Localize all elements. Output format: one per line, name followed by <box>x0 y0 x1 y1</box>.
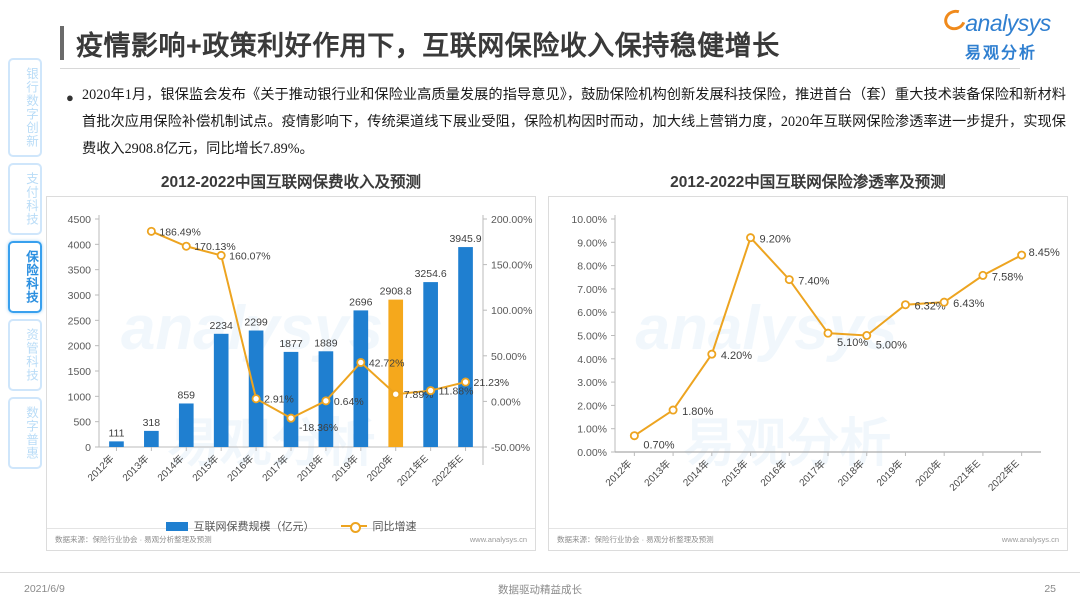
analysys-logo: analysys 易观分析 <box>940 8 1062 60</box>
svg-text:42.72%: 42.72% <box>369 357 405 369</box>
chart-source-right: 数据来源：保险行业协会 · 易观分析整理及预测 www.analysys.cn <box>549 528 1067 550</box>
svg-text:6.43%: 6.43% <box>953 298 984 310</box>
bar-2016年 <box>249 331 264 447</box>
svg-text:2.00%: 2.00% <box>577 400 607 412</box>
chart-svg-penetration-rate: analysys易观分析0.00%1.00%2.00%3.00%4.00%5.0… <box>549 197 1067 527</box>
svg-text:2022年E: 2022年E <box>985 457 1022 494</box>
svg-text:150.00%: 150.00% <box>491 260 532 272</box>
svg-text:2013年: 2013年 <box>641 457 673 489</box>
svg-text:4.20%: 4.20% <box>721 350 752 362</box>
svg-text:2013年: 2013年 <box>119 452 151 484</box>
sidebar-item-bank-digital[interactable]: 银行数字创新 <box>8 58 42 157</box>
logo-chinese-text: 易观分析 <box>940 39 1062 63</box>
header-divider <box>60 68 1020 69</box>
svg-text:0: 0 <box>85 442 91 454</box>
svg-text:10.00%: 10.00% <box>571 214 607 226</box>
svg-text:0.64%: 0.64% <box>334 396 364 408</box>
title-accent-bar <box>60 26 64 60</box>
slide-root: 疫情影响+政策利好作用下，互联网保险收入保持稳健增长 analysys 易观分析… <box>0 0 1080 608</box>
svg-text:3.00%: 3.00% <box>577 377 607 389</box>
svg-text:-18.36%: -18.36% <box>299 422 338 434</box>
svg-text:5.10%: 5.10% <box>837 337 868 349</box>
bar-2014年 <box>179 403 194 447</box>
svg-text:318: 318 <box>143 417 161 429</box>
sidebar-item-label: 数字普惠 <box>24 406 38 460</box>
sidebar-nav: 银行数字创新 支付科技 保险科技 资管科技 数字普惠 <box>8 58 42 475</box>
source-url: www.analysys.cn <box>470 535 527 544</box>
logo-wordmark: analysys <box>940 8 1062 38</box>
svg-text:7.00%: 7.00% <box>577 284 607 296</box>
source-label: 数据来源：保险行业协会 · 易观分析整理及预测 <box>557 534 714 545</box>
chart-panel-premium-income: analysys易观分析0500100015002000250030003500… <box>46 196 536 551</box>
svg-text:3500: 3500 <box>68 265 92 277</box>
sidebar-item-asset-tech[interactable]: 资管科技 <box>8 319 42 391</box>
sidebar-item-label: 银行数字创新 <box>24 67 38 148</box>
page-title-text: 疫情影响+政策利好作用下，互联网保险收入保持稳健增长 <box>76 24 780 63</box>
chart-panel-penetration-rate: analysys易观分析0.00%1.00%2.00%3.00%4.00%5.0… <box>548 196 1068 551</box>
sidebar-item-label: 支付科技 <box>24 172 38 226</box>
legend-swatch-bar-icon <box>166 522 188 531</box>
legend-label: 互联网保费规模（亿元） <box>194 518 315 534</box>
svg-text:2.91%: 2.91% <box>264 394 294 406</box>
sidebar-item-payment-tech[interactable]: 支付科技 <box>8 163 42 235</box>
svg-text:500: 500 <box>73 417 91 429</box>
bar-2013年 <box>144 431 159 447</box>
svg-text:7.40%: 7.40% <box>798 276 829 288</box>
svg-text:160.07%: 160.07% <box>229 250 270 262</box>
svg-text:1889: 1889 <box>314 337 338 349</box>
legend-item-line[interactable]: 同比增速 <box>341 518 417 534</box>
svg-text:1000: 1000 <box>68 391 92 403</box>
sidebar-item-insurance-tech[interactable]: 保险科技 <box>8 241 42 313</box>
svg-text:186.49%: 186.49% <box>159 226 200 238</box>
footer-divider <box>0 572 1080 573</box>
svg-text:5.00%: 5.00% <box>876 340 907 352</box>
bar-2015年 <box>214 334 229 447</box>
svg-text:2000: 2000 <box>68 341 92 353</box>
chart-title-penetration-rate: 2012-2022中国互联网保险渗透率及预测 <box>548 170 1068 192</box>
svg-text:21.23%: 21.23% <box>474 377 510 389</box>
svg-text:4000: 4000 <box>68 239 92 251</box>
svg-text:2021年E: 2021年E <box>946 457 983 494</box>
bullet-paragraph: ● 2020年1月，银保监会发布《关于推动银行业和保险业高质量发展的指导意见》，… <box>66 82 1066 163</box>
svg-text:6.00%: 6.00% <box>577 307 607 319</box>
bullet-paragraph-text: 2020年1月，银保监会发布《关于推动银行业和保险业高质量发展的指导意见》，鼓励… <box>82 82 1066 163</box>
svg-text:4.00%: 4.00% <box>577 354 607 366</box>
page-title: 疫情影响+政策利好作用下，互联网保险收入保持稳健增长 <box>60 20 940 66</box>
svg-text:1.00%: 1.00% <box>577 424 607 436</box>
svg-text:100.00%: 100.00% <box>491 305 532 317</box>
svg-text:2020年: 2020年 <box>912 457 944 489</box>
sidebar-item-label: 保险科技 <box>24 250 38 304</box>
svg-text:1.80%: 1.80% <box>682 406 713 418</box>
legend-label: 同比增速 <box>373 518 417 534</box>
svg-text:3945.9: 3945.9 <box>449 233 481 245</box>
bar-2012年 <box>109 441 124 447</box>
svg-text:1877: 1877 <box>279 338 303 350</box>
svg-text:11.88%: 11.88% <box>439 386 474 398</box>
source-label: 数据来源：保险行业协会 · 易观分析整理及预测 <box>55 534 212 545</box>
chart-svg-premium-income: analysys易观分析0500100015002000250030003500… <box>47 197 535 527</box>
svg-text:2022年E: 2022年E <box>429 452 466 489</box>
svg-text:50.00%: 50.00% <box>491 351 527 363</box>
svg-text:2908.8: 2908.8 <box>380 286 412 298</box>
source-url: www.analysys.cn <box>1002 535 1059 544</box>
svg-text:8.45%: 8.45% <box>1029 247 1060 259</box>
footer-date: 2021/6/9 <box>24 583 65 595</box>
svg-text:9.20%: 9.20% <box>760 234 791 246</box>
svg-text:2012年: 2012年 <box>602 457 634 489</box>
svg-text:1500: 1500 <box>68 366 92 378</box>
footer: 2021/6/9 数据驱动精益成长 25 <box>0 576 1080 602</box>
svg-text:7.58%: 7.58% <box>992 271 1023 283</box>
footer-tagline: 数据驱动精益成长 <box>0 582 1080 597</box>
svg-text:8.00%: 8.00% <box>577 261 607 273</box>
svg-text:4500: 4500 <box>68 214 92 226</box>
legend-swatch-line-icon <box>341 525 367 527</box>
chart-legend-premium-income: 互联网保费规模（亿元） 同比增速 <box>46 518 536 534</box>
svg-text:2012年: 2012年 <box>85 452 117 484</box>
svg-text:9.00%: 9.00% <box>577 237 607 249</box>
svg-text:0.00%: 0.00% <box>491 396 521 408</box>
sidebar-item-digital-inclusive[interactable]: 数字普惠 <box>8 397 42 469</box>
legend-item-bar[interactable]: 互联网保费规模（亿元） <box>166 518 315 534</box>
bar-2022年E <box>458 247 473 447</box>
svg-text:2299: 2299 <box>244 317 268 329</box>
svg-text:5.00%: 5.00% <box>577 331 607 343</box>
svg-text:859: 859 <box>178 389 196 401</box>
bar-2020年 <box>388 300 403 447</box>
svg-text:2500: 2500 <box>68 315 92 327</box>
svg-text:0.00%: 0.00% <box>577 447 607 459</box>
sidebar-item-label: 资管科技 <box>24 328 38 382</box>
bar-2021年E <box>423 282 438 447</box>
bar-2019年 <box>353 310 368 447</box>
footer-page-number: 25 <box>1044 583 1056 595</box>
svg-text:2021年E: 2021年E <box>394 452 431 489</box>
svg-text:2234: 2234 <box>210 320 234 332</box>
bullet-marker-icon: ● <box>66 82 82 163</box>
svg-text:-50.00%: -50.00% <box>491 442 530 454</box>
svg-text:200.00%: 200.00% <box>491 214 532 226</box>
svg-text:3254.6: 3254.6 <box>415 268 447 280</box>
svg-text:111: 111 <box>108 427 124 439</box>
chart-title-premium-income: 2012-2022中国互联网保费收入及预测 <box>46 170 536 192</box>
svg-text:analysys: analysys <box>636 294 898 363</box>
svg-text:0.70%: 0.70% <box>643 440 674 452</box>
svg-text:3000: 3000 <box>68 290 92 302</box>
svg-text:2696: 2696 <box>349 296 373 308</box>
